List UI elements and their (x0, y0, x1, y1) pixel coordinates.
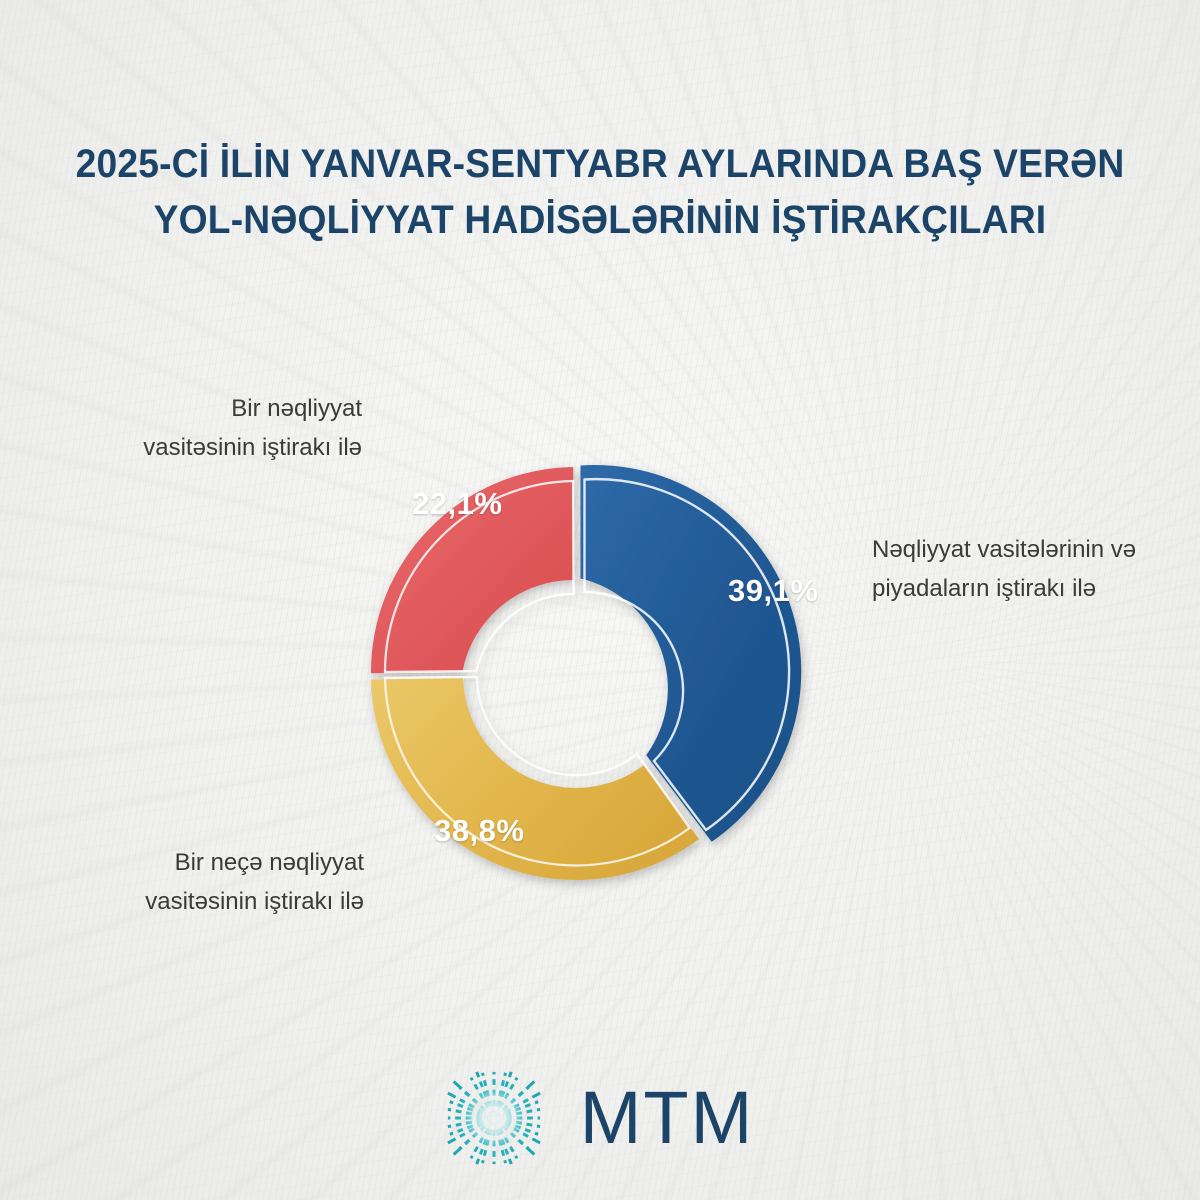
category-label-several-vehicles-line-1: Bir neçə nəqliyyat (112, 843, 364, 882)
category-label-several-vehicles: Bir neçə nəqliyyat vasitəsinin iştirakı … (112, 843, 364, 921)
footer-logo: MTM (0, 1070, 1200, 1166)
mtm-burst-icon (446, 1070, 542, 1166)
slice-percentage-one-vehicle: 22,1% (412, 486, 502, 522)
donut-chart-svg (310, 407, 840, 937)
slice-percentage-several-vehicles: 38,8% (434, 813, 524, 849)
donut-chart: 39,1% 38,8% 22,1% Nəqliyyat vasitələrini… (0, 0, 1200, 1200)
infographic-canvas: 2025-Cİ İLİN YANVAR-SENTYABR AYLARINDA B… (0, 0, 1200, 1200)
category-label-vehicles-pedestrians-line-1: Nəqliyyat vasitələrinin və (872, 530, 1136, 569)
category-label-vehicles-pedestrians-line-2: piyadaların iştirakı ilə (872, 569, 1136, 608)
category-label-vehicles-pedestrians: Nəqliyyat vasitələrinin və piyadaların i… (872, 530, 1136, 608)
donut-slice-several-vehicles[interactable] (371, 678, 699, 880)
category-label-one-vehicle: Bir nəqliyyat vasitəsinin iştirakı ilə (122, 389, 362, 467)
slice-percentage-vehicles-pedestrians: 39,1% (728, 573, 818, 609)
category-label-several-vehicles-line-2: vasitəsinin iştirakı ilə (112, 882, 364, 921)
category-label-one-vehicle-line-1: Bir nəqliyyat (122, 389, 362, 428)
mtm-logo-text: MTM (580, 1081, 755, 1155)
category-label-one-vehicle-line-2: vasitəsinin iştirakı ilə (122, 428, 362, 467)
